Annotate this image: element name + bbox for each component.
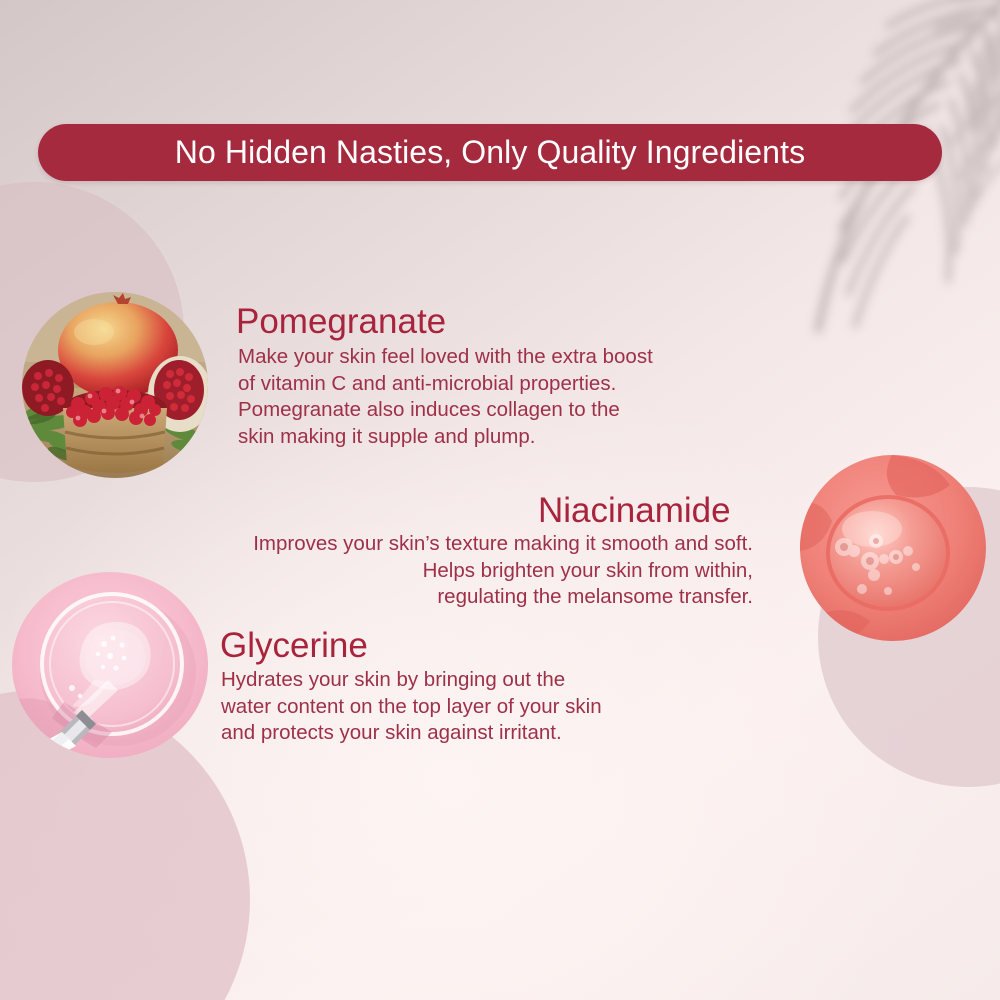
title-banner: No Hidden Nasties, Only Quality Ingredie… xyxy=(38,124,942,181)
ingredient-heading-pomegranate: Pomegranate xyxy=(236,301,446,343)
ingredient-heading-niacinamide: Niacinamide xyxy=(538,490,731,532)
ingredient-description-glycerine: Hydrates your skin by bringing out the w… xyxy=(221,667,641,747)
pomegranate-image xyxy=(22,292,208,478)
niacinamide-image xyxy=(800,455,986,641)
ingredients-infographic: No Hidden Nasties, Only Quality Ingredie… xyxy=(0,0,1000,1000)
ingredient-heading-glycerine: Glycerine xyxy=(220,625,368,667)
ingredient-description-pomegranate: Make your skin feel loved with the extra… xyxy=(238,344,708,450)
banner-title: No Hidden Nasties, Only Quality Ingredie… xyxy=(175,134,805,171)
ingredient-description-niacinamide: Improves your skin’s texture making it s… xyxy=(180,531,753,611)
glycerine-image xyxy=(12,572,208,758)
